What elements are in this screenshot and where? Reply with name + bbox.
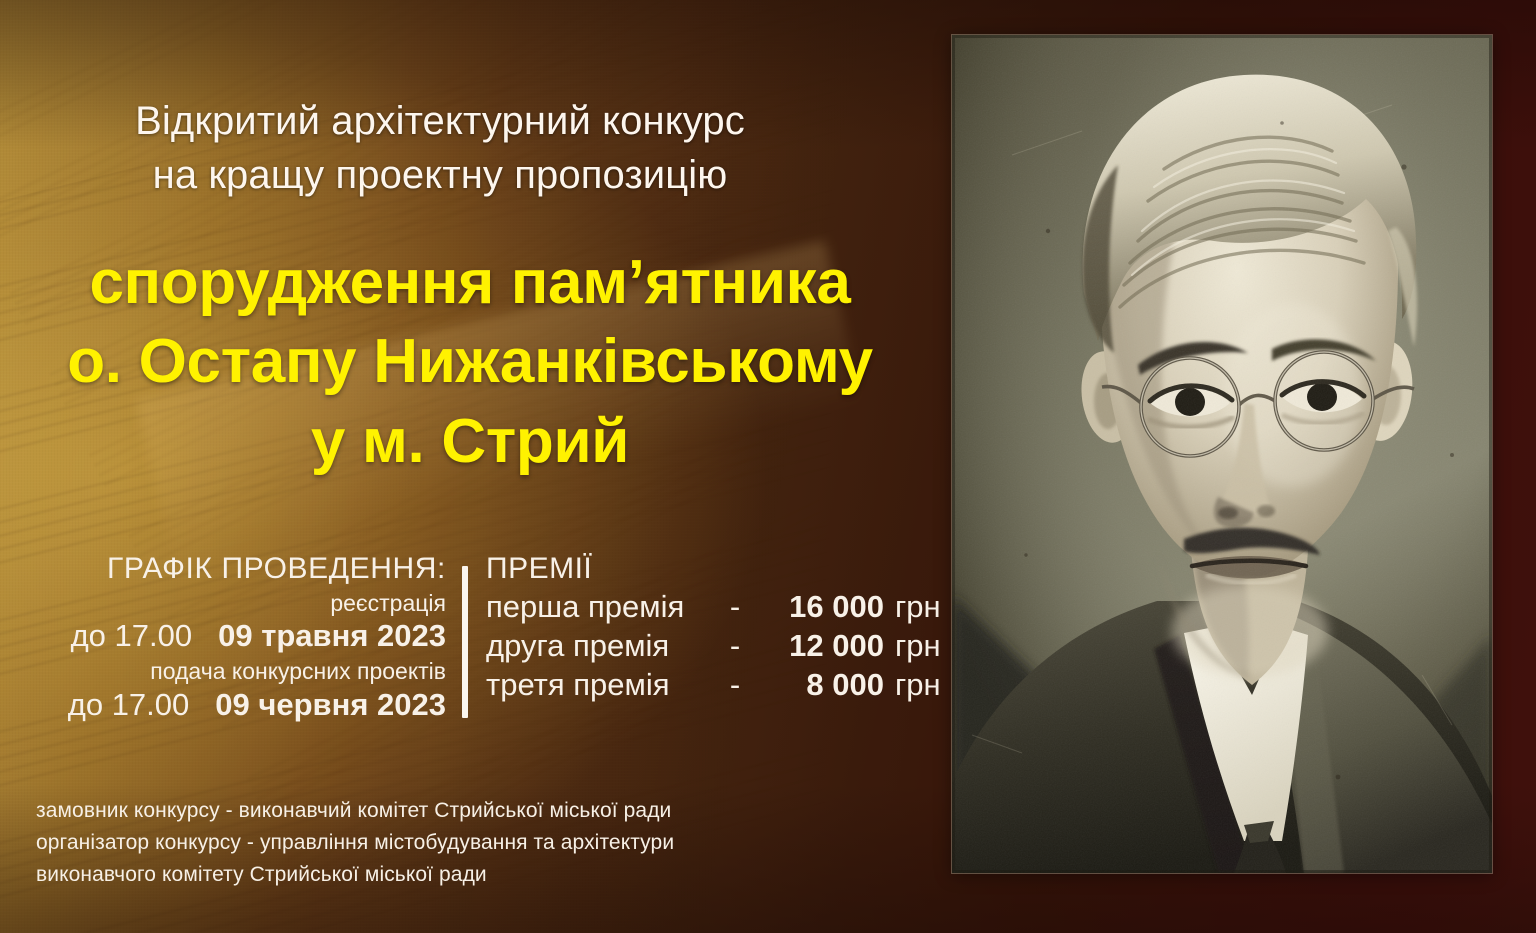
prize-third-amount: 8 000 (752, 667, 884, 703)
schedule-row-1-date: 09 травня 2023 (218, 618, 446, 654)
title-line-3: у м. Стрий (0, 402, 940, 481)
text-column: Відкритий архітектурний конкурс на кращу… (0, 0, 952, 933)
prize-first-currency: грн (884, 589, 941, 625)
info-band: ГРАФІК ПРОВЕДЕННЯ: реєстрація до 17.00 0… (0, 552, 952, 732)
schedule-row-1-label: реєстрація (0, 590, 446, 618)
headline-line-2: на кращу проектну пропозицію (0, 148, 880, 202)
headline-line-1: Відкритий архітектурний конкурс (0, 94, 880, 148)
schedule-row-1-time: до 17.00 (71, 618, 193, 654)
footer-credits: замовник конкурсу - виконавчий комітет С… (36, 795, 916, 891)
prizes-block: ПРЕМІЇ перша премія - 16 000 грн друга п… (468, 552, 952, 703)
schedule-block: ГРАФІК ПРОВЕДЕННЯ: реєстрація до 17.00 0… (0, 552, 462, 723)
prize-row-first: перша премія - 16 000 грн (486, 589, 952, 625)
prize-third-name: третя премія (486, 667, 718, 703)
prize-third-currency: грн (884, 667, 941, 703)
title-line-2: о. Остапу Нижанківському (0, 322, 940, 401)
title-line-1: спорудження пам’ятника (0, 243, 940, 322)
schedule-row-2-time: до 17.00 (68, 687, 190, 723)
schedule-heading: ГРАФІК ПРОВЕДЕННЯ: (0, 552, 446, 586)
prize-first-name: перша премія (486, 589, 718, 625)
prize-second-dash: - (718, 628, 752, 664)
prize-row-third: третя премія - 8 000 грн (486, 667, 952, 703)
footer-line-1: замовник конкурсу - виконавчий комітет С… (36, 795, 916, 827)
headline: Відкритий архітектурний конкурс на кращу… (0, 94, 880, 202)
prize-second-currency: грн (884, 628, 941, 664)
prize-row-second: друга премія - 12 000 грн (486, 628, 952, 664)
schedule-row-2: до 17.00 09 червня 2023 (0, 687, 446, 723)
footer-line-2: організатор конкурсу - управління містоб… (36, 827, 916, 859)
schedule-row-2-label: подача конкурсних проектів (0, 658, 446, 686)
prize-second-name: друга премія (486, 628, 718, 664)
prize-third-dash: - (718, 667, 752, 703)
prize-first-dash: - (718, 589, 752, 625)
schedule-row-2-date: 09 червня 2023 (215, 687, 446, 723)
prizes-heading: ПРЕМІЇ (486, 552, 952, 586)
portrait-photo (952, 35, 1492, 873)
footer-line-3: виконавчого комітету Стрийської міської … (36, 859, 916, 891)
page-title: спорудження пам’ятника о. Остапу Нижанкі… (0, 243, 940, 481)
poster-canvas: Відкритий архітектурний конкурс на кращу… (0, 0, 1536, 933)
prize-second-amount: 12 000 (752, 628, 884, 664)
prize-first-amount: 16 000 (752, 589, 884, 625)
schedule-row-1: до 17.00 09 травня 2023 (0, 618, 446, 654)
portrait-illustration (952, 35, 1492, 873)
